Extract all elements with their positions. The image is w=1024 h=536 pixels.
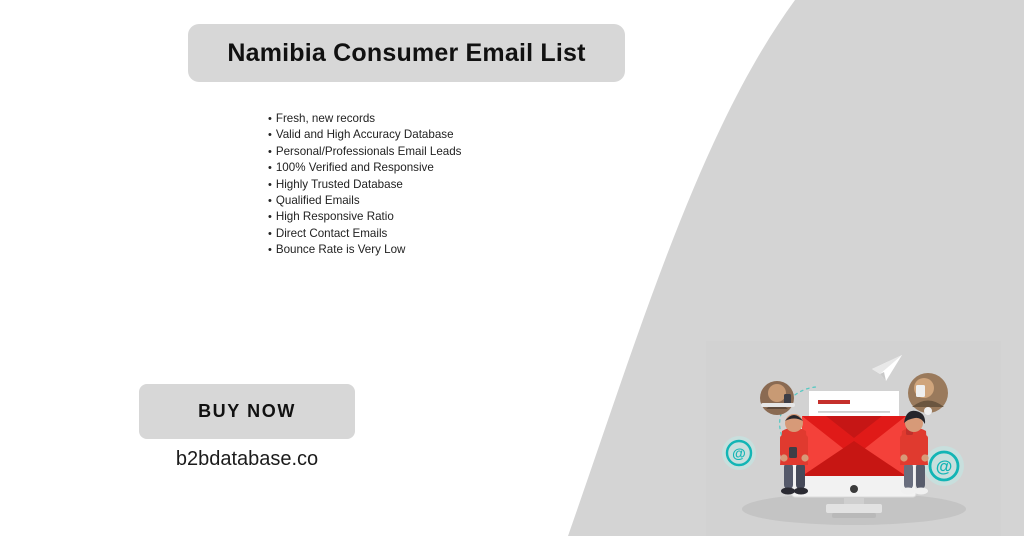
at-badge-right: @ (924, 446, 964, 486)
email-marketing-illustration: @ @ (706, 341, 1001, 536)
bullet-icon: • (268, 178, 272, 193)
bullet-icon: • (268, 161, 272, 176)
list-item-label: Personal/Professionals Email Leads (276, 144, 462, 159)
bullet-icon: • (268, 145, 272, 160)
bullet-icon: • (268, 227, 272, 242)
list-item: • Direct Contact Emails (268, 226, 548, 242)
page-title-box: Namibia Consumer Email List (188, 24, 625, 82)
bullet-icon: • (268, 112, 272, 127)
list-item: • Qualified Emails (268, 193, 548, 209)
list-item-label: 100% Verified and Responsive (276, 160, 434, 175)
bullet-icon: • (268, 128, 272, 143)
list-item-label: Bounce Rate is Very Low (276, 242, 406, 257)
list-item-label: High Responsive Ratio (276, 209, 394, 224)
svg-text:@: @ (936, 457, 953, 476)
list-item: • 100% Verified and Responsive (268, 160, 548, 176)
feature-list: • Fresh, new records • Valid and High Ac… (268, 111, 548, 259)
list-item: • Valid and High Accuracy Database (268, 127, 548, 143)
page-title: Namibia Consumer Email List (227, 39, 585, 68)
list-item-label: Qualified Emails (276, 193, 360, 208)
bullet-icon: • (268, 210, 272, 225)
svg-text:@: @ (732, 445, 746, 461)
list-item: • Highly Trusted Database (268, 177, 548, 193)
list-item-label: Valid and High Accuracy Database (276, 127, 454, 142)
buy-now-label: BUY NOW (198, 401, 296, 422)
site-url: b2bdatabase.co (139, 448, 355, 471)
list-item: • High Responsive Ratio (268, 209, 548, 225)
envelope-icon (802, 416, 906, 476)
bullet-icon: • (268, 243, 272, 258)
at-badge-left: @ (722, 436, 756, 470)
poster-canvas: Namibia Consumer Email List • Fresh, new… (0, 0, 1024, 536)
list-item-label: Direct Contact Emails (276, 226, 387, 241)
list-item: • Fresh, new records (268, 111, 548, 127)
list-item-label: Fresh, new records (276, 111, 375, 126)
list-item-label: Highly Trusted Database (276, 177, 403, 192)
buy-now-button[interactable]: BUY NOW (139, 384, 355, 439)
list-item: • Personal/Professionals Email Leads (268, 144, 548, 160)
list-item: • Bounce Rate is Very Low (268, 242, 548, 258)
bullet-icon: • (268, 194, 272, 209)
